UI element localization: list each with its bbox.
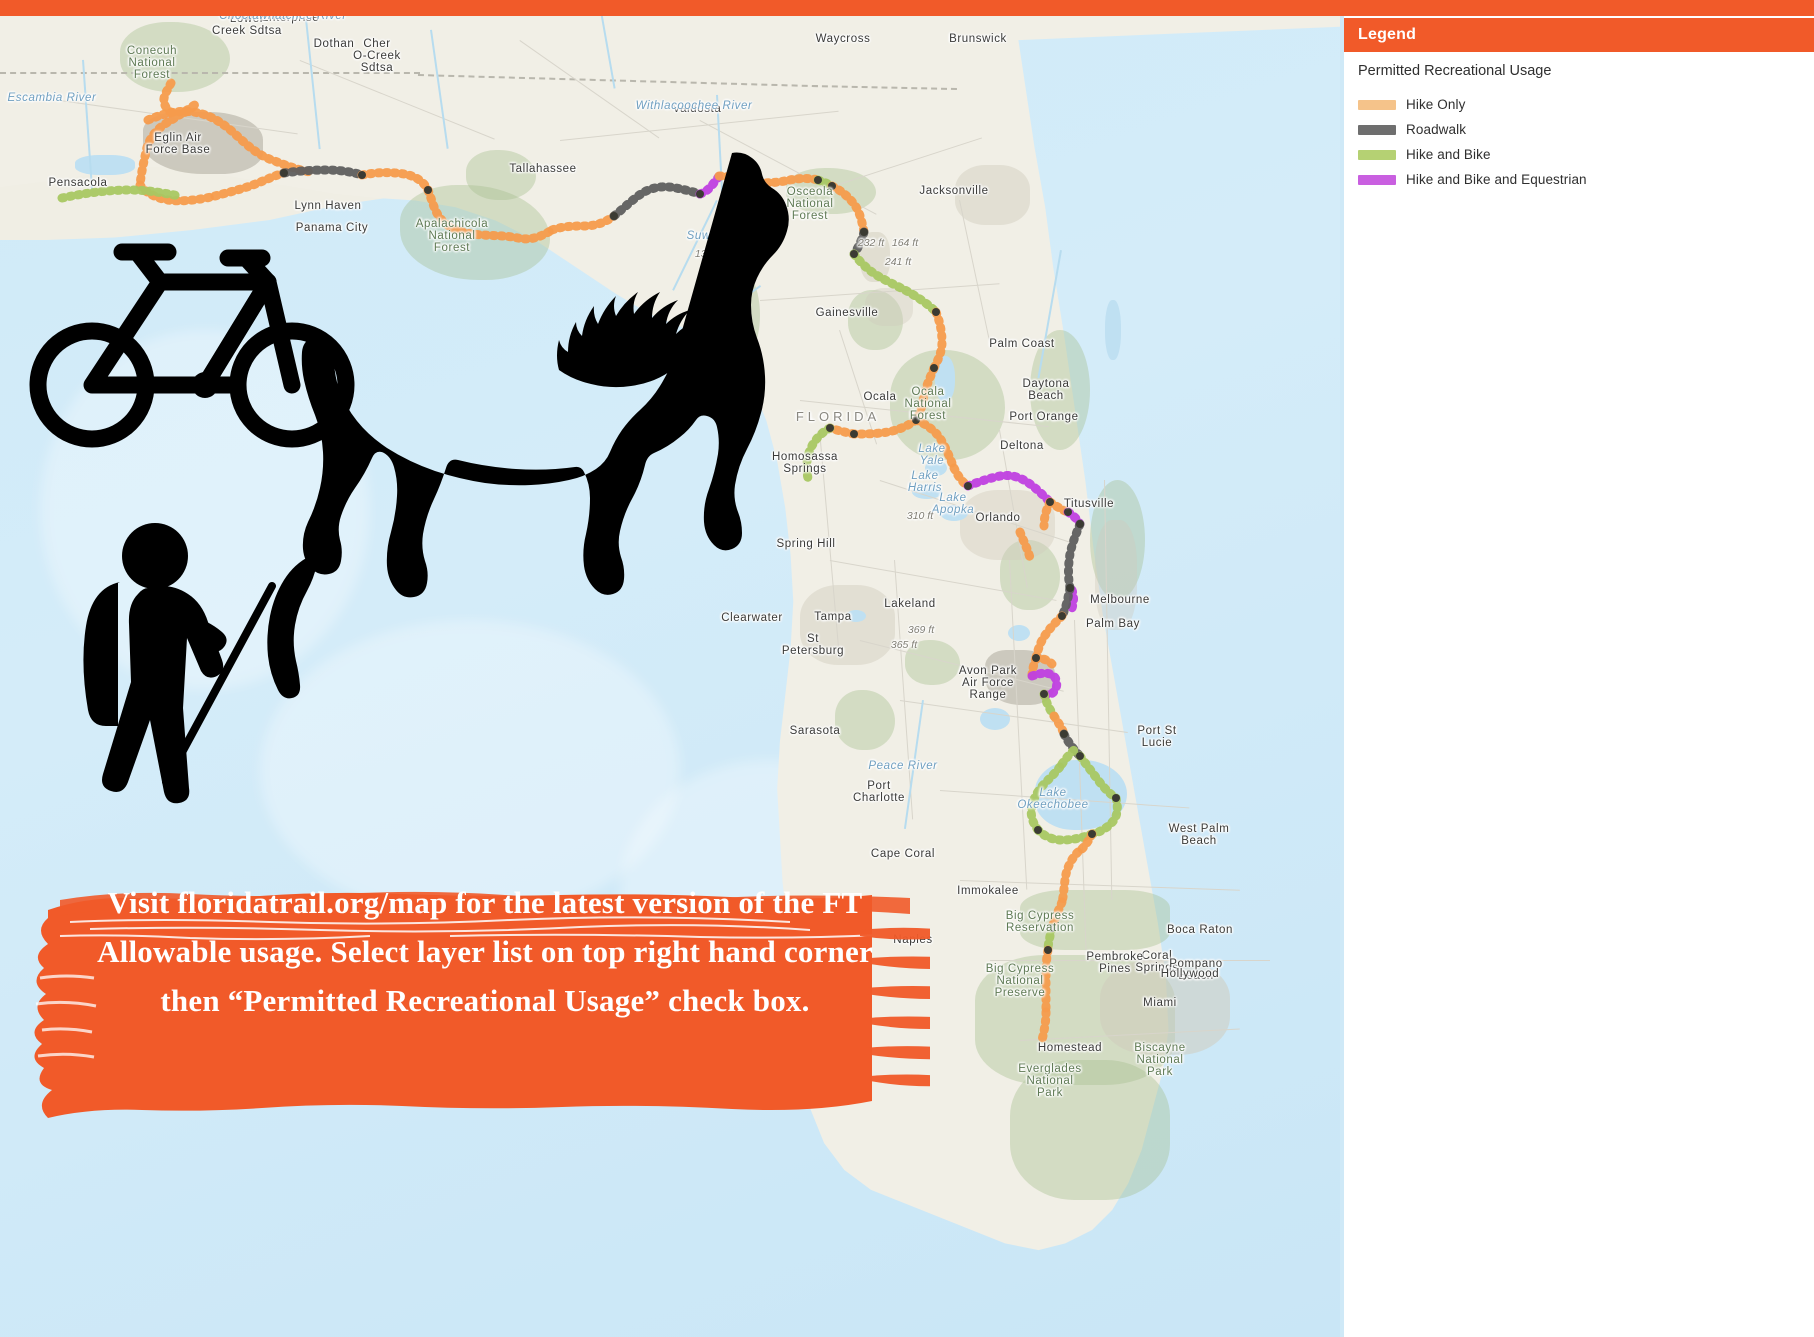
- urban-area: [800, 585, 895, 665]
- forest-patch: [700, 260, 760, 370]
- legend-item-label: Hike and Bike and Equestrian: [1406, 172, 1587, 187]
- state-boundary: [0, 72, 420, 74]
- map-panel[interactable]: .seg { fill:none; stroke-linecap:round; …: [0, 0, 1340, 1337]
- legend-swatch-icon: [1358, 150, 1396, 160]
- lake: [925, 460, 947, 476]
- top-accent-bar: [0, 0, 1814, 16]
- urban-area: [860, 232, 890, 282]
- legend-swatch-icon: [1358, 100, 1396, 110]
- road: [990, 960, 1270, 961]
- urban-area: [1095, 520, 1137, 630]
- ocean-highlight: [40, 330, 370, 690]
- forest-patch: [466, 150, 536, 200]
- legend-item-label: Hike and Bike: [1406, 147, 1491, 162]
- banner-text: Visit floridatrail.org/map for the lates…: [90, 878, 880, 1025]
- lake: [935, 356, 955, 402]
- legend-subtitle: Permitted Recreational Usage: [1358, 63, 1551, 79]
- bay: [75, 155, 135, 175]
- legend-item-hike-and-bike-and-equestrian[interactable]: Hike and Bike and Equestrian: [1358, 167, 1798, 192]
- forest-patch: [1020, 890, 1170, 950]
- legend-swatch-icon: [1358, 125, 1396, 135]
- legend-panel[interactable]: Legend Permitted Recreational Usage Hike…: [1344, 0, 1814, 1337]
- urban-area: [960, 490, 1055, 560]
- forest-patch: [1010, 1060, 1170, 1200]
- lake: [1105, 300, 1121, 360]
- legend-item-roadwalk[interactable]: Roadwalk: [1358, 117, 1798, 142]
- legend-swatch-icon: [1358, 175, 1396, 185]
- urban-area: [1100, 960, 1230, 1055]
- legend-title: Legend: [1344, 26, 1416, 44]
- forest-patch: [120, 22, 230, 92]
- urban-area: [955, 165, 1030, 225]
- military-area-avon-park: [985, 650, 1055, 705]
- forest-patch: [1030, 330, 1090, 450]
- forest-patch: [835, 690, 895, 750]
- legend-item-hike-and-bike[interactable]: Hike and Bike: [1358, 142, 1798, 167]
- urban-area: [865, 288, 913, 326]
- legend-item-label: Roadwalk: [1406, 122, 1466, 137]
- legend-item-hike-only[interactable]: Hike Only: [1358, 92, 1798, 117]
- legend-item-label: Hike Only: [1406, 97, 1465, 112]
- lake: [846, 610, 866, 622]
- legend-header: Legend: [1344, 18, 1814, 52]
- legend-item-list: Hike OnlyRoadwalkHike and BikeHike and B…: [1358, 92, 1798, 192]
